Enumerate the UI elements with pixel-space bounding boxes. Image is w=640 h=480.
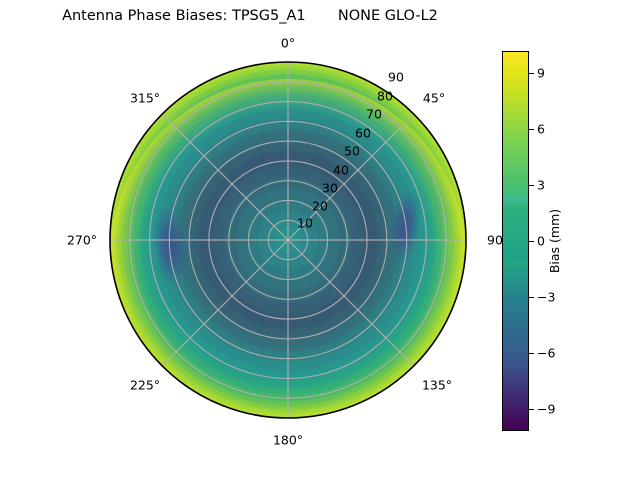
angular-label-45: 45° — [423, 91, 445, 106]
colorbar-tick-9 — [529, 73, 534, 74]
angular-label-90: 90 — [487, 233, 503, 248]
colorbar-tick-neg3 — [529, 297, 534, 298]
colorbar-tick-0 — [529, 241, 534, 242]
radial-label-70: 70 — [366, 107, 382, 122]
figure-canvas: Antenna Phase Biases: TPSG5_A1 NONE GLO-… — [0, 0, 640, 480]
radial-label-10: 10 — [297, 216, 313, 231]
angular-label-135: 135° — [422, 378, 452, 393]
radial-label-20: 20 — [312, 199, 328, 214]
colorbar-ticklabel-neg6: −6 — [537, 345, 555, 360]
colorbar-ticklabel-3: 3 — [537, 178, 545, 193]
radial-label-30: 30 — [322, 181, 338, 196]
radial-label-80: 80 — [377, 89, 393, 104]
colorbar-tick-neg6 — [529, 353, 534, 354]
radial-label-90: 90 — [388, 70, 404, 85]
polar-contour-svg — [109, 61, 467, 419]
colorbar-tick-3 — [529, 185, 534, 186]
angular-label-180: 180° — [273, 433, 303, 448]
colorbar-ticklabel-neg3: −3 — [537, 289, 555, 304]
radial-label-60: 60 — [355, 126, 371, 141]
colorbar-axis-label: Bias (mm) — [547, 209, 562, 273]
chart-title: Antenna Phase Biases: TPSG5_A1 NONE GLO-… — [0, 8, 500, 24]
colorbar-ticklabel-6: 6 — [537, 122, 545, 137]
colorbar-tick-neg9 — [529, 409, 534, 410]
angular-label-270: 270° — [67, 233, 97, 248]
colorbar-tick-6 — [529, 129, 534, 130]
colorbar-ticklabel-0: 0 — [537, 234, 545, 249]
radial-label-50: 50 — [344, 144, 360, 159]
polar-grid — [110, 62, 466, 418]
colorbar-gradient — [502, 51, 529, 431]
angular-label-315: 315° — [130, 91, 160, 106]
colorbar: 9 6 3 0 −3 −6 −9 — [502, 51, 529, 431]
colorbar-ticklabel-neg9: −9 — [537, 401, 555, 416]
angular-label-225: 225° — [130, 378, 160, 393]
angular-label-0: 0° — [281, 36, 295, 51]
polar-plot: 0° 45° 90 135° 180° 225° 270° 315° 10 20… — [109, 61, 467, 419]
radial-label-40: 40 — [333, 163, 349, 178]
colorbar-ticklabel-9: 9 — [537, 66, 545, 81]
